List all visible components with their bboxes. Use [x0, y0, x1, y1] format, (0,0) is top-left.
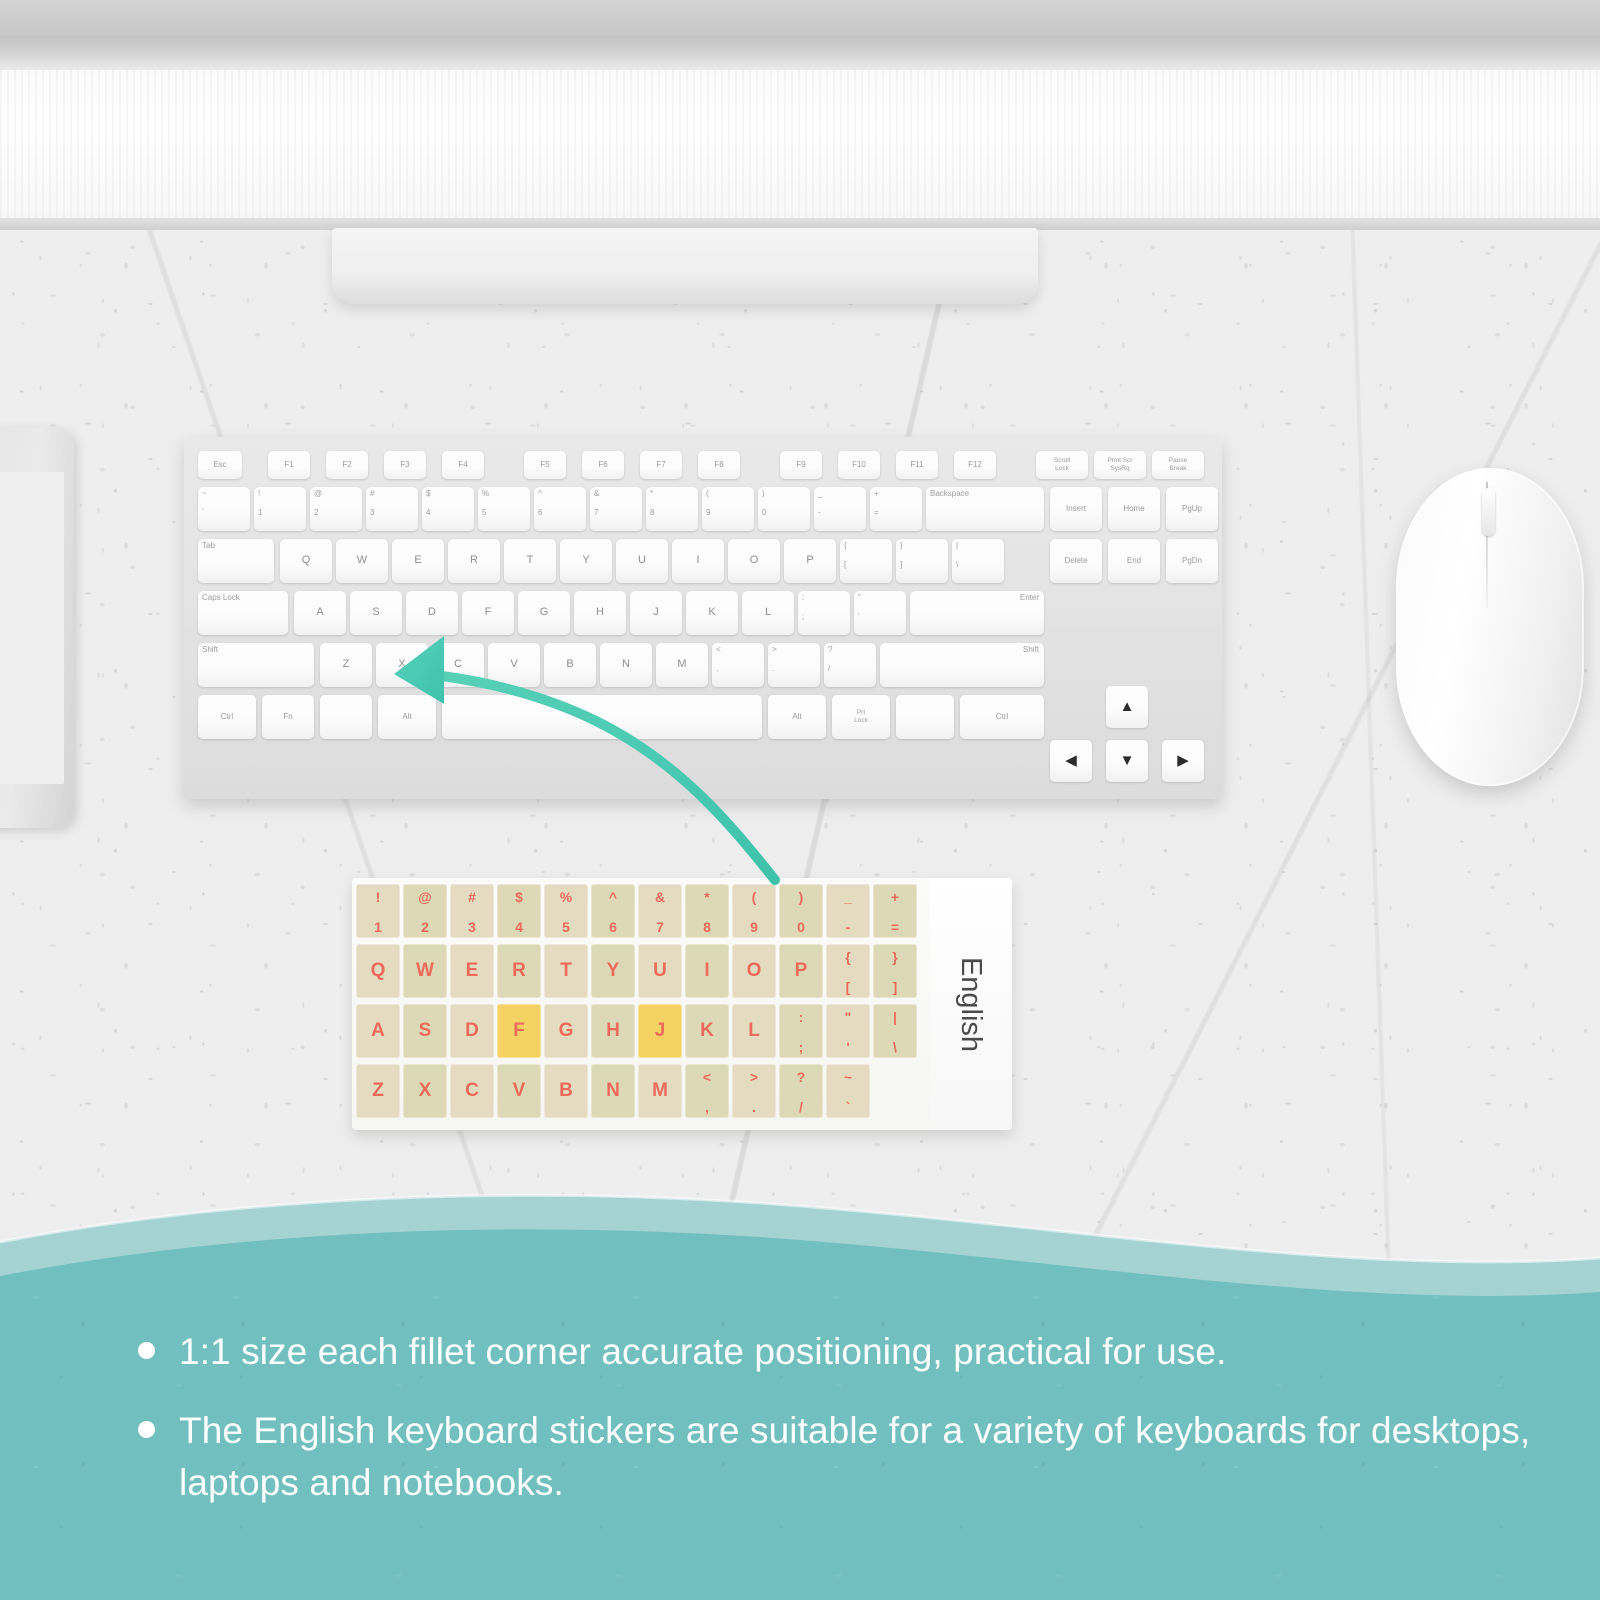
key-pause-break[interactable]: PauseBreak [1152, 451, 1204, 479]
sticker-key-lower-label: , [685, 1099, 729, 1115]
sticker-key-t: T [544, 944, 588, 998]
sticker-key-d: D [450, 1004, 494, 1058]
sticker-key-5: %5 [544, 884, 588, 938]
key-5[interactable]: %5 [478, 487, 530, 531]
sticker-key-7: &7 [638, 884, 682, 938]
key-blank[interactable]: {[ [840, 539, 892, 583]
key-label: Caps Lock [202, 594, 240, 602]
key-upper-label: ^ [538, 490, 542, 498]
sticker-key-upper-label: ) [779, 889, 823, 905]
sticker-home-row: ASDFGHJKL:;"'|\ [356, 1004, 922, 1058]
sticker-key-label: R [497, 960, 541, 982]
sticker-key-upper-label: | [873, 1009, 917, 1025]
sticker-key-key: ~` [826, 1064, 870, 1118]
sticker-key-h: H [591, 1004, 635, 1058]
key-upper-label: ! [258, 490, 260, 498]
sticker-key-label: F [497, 1020, 541, 1042]
key-s[interactable]: S [350, 591, 402, 635]
key-lower-label: - [818, 509, 821, 517]
key-f11[interactable]: F11 [896, 451, 938, 479]
sticker-key-lower-label: - [826, 919, 870, 935]
smartphone-screen [0, 472, 64, 784]
sticker-key-grid: !1@2#3$4%5^6&7*8(9)0_-+=QWERTYUIOP{[}]AS… [356, 884, 922, 1122]
key-blank[interactable]: :; [798, 591, 850, 635]
key-upper-label: ) [762, 490, 765, 498]
sticker-key-label: C [450, 1080, 494, 1102]
key-caps-lock[interactable]: Caps Lock [198, 591, 288, 635]
key-pgdn[interactable]: PgDn [1166, 539, 1218, 583]
key-label: F5 [524, 461, 566, 469]
key-tab[interactable]: Tab [198, 539, 274, 583]
key-label: H [574, 607, 626, 619]
sticker-key-key: {[ [826, 944, 870, 998]
key-f2[interactable]: F2 [326, 451, 368, 479]
key-shift[interactable]: Shift [880, 643, 1044, 687]
sticker-key-f: F [497, 1004, 541, 1058]
sticker-key-9: (9 [732, 884, 776, 938]
key-enter[interactable]: Enter [910, 591, 1044, 635]
key-f5[interactable]: F5 [524, 451, 566, 479]
sticker-key-key: ?/ [779, 1064, 823, 1118]
sticker-key-upper-label: @ [403, 889, 447, 905]
key-upper-label: { [844, 542, 847, 550]
product-photo-scene: EscF1F2F3F4F5F6F7F8F9F10F11F12ScrollLock… [0, 0, 1600, 1600]
key-home[interactable]: Home [1108, 487, 1160, 531]
key-label: Print ScrSysRq [1094, 457, 1146, 473]
key-label: U [616, 555, 668, 567]
sticker-key-g: G [544, 1004, 588, 1058]
key-lower-label: \ [956, 561, 958, 569]
key-label: F8 [698, 461, 740, 469]
key-insert[interactable]: Insert [1050, 487, 1102, 531]
sticker-number-row: !1@2#3$4%5^6&7*8(9)0_-+= [356, 884, 922, 938]
key-lower-label: ' [858, 613, 860, 621]
sticker-key-2: @2 [403, 884, 447, 938]
key-f8[interactable]: F8 [698, 451, 740, 479]
key-label: Home [1108, 505, 1160, 513]
key-f7[interactable]: F7 [640, 451, 682, 479]
key-lower-label: 8 [650, 509, 654, 517]
sticker-key-b: B [544, 1064, 588, 1118]
key-y[interactable]: Y [560, 539, 612, 583]
key-fn[interactable]: Fn [262, 695, 314, 739]
key-j[interactable]: J [630, 591, 682, 635]
key-0[interactable]: )0 [758, 487, 810, 531]
key-i[interactable]: I [672, 539, 724, 583]
key-backspace[interactable]: Backspace [926, 487, 1044, 531]
arrow-right-key[interactable]: ▶ [1162, 740, 1204, 782]
key-f10[interactable]: F10 [838, 451, 880, 479]
sticker-key-l: L [732, 1004, 776, 1058]
sticker-key-z: Z [356, 1064, 400, 1118]
key-w[interactable]: W [336, 539, 388, 583]
key-scroll-lock[interactable]: ScrollLock [1036, 451, 1088, 479]
key-upper-label: & [594, 490, 599, 498]
key-f[interactable]: F [462, 591, 514, 635]
sticker-key-upper-label: ^ [591, 889, 635, 905]
key-delete[interactable]: Delete [1050, 539, 1102, 583]
sticker-key-upper-label: + [873, 889, 917, 905]
sticker-key-upper-label: * [685, 889, 729, 905]
sticker-key-upper-label: ~ [826, 1069, 870, 1085]
key-label: ScrollLock [1036, 457, 1088, 473]
sticker-key-upper-label: $ [497, 889, 541, 905]
sticker-key-key: "' [826, 1004, 870, 1058]
sticker-key-label: D [450, 1020, 494, 1042]
sticker-key-upper-label: < [685, 1069, 729, 1085]
key-label: O [728, 555, 780, 567]
sticker-key-key: <, [685, 1064, 729, 1118]
key-label: R [448, 555, 500, 567]
sticker-key-4: $4 [497, 884, 541, 938]
key-label: F2 [326, 461, 368, 469]
arrow-down-key[interactable]: ▼ [1106, 740, 1148, 782]
mouse-scroll-wheel [1482, 488, 1495, 536]
sticker-key-lower-label: . [732, 1099, 776, 1115]
sticker-key-label: S [403, 1020, 447, 1042]
sticker-key-y: Y [591, 944, 635, 998]
key-shift[interactable]: Shift [198, 643, 314, 687]
key-label: L [742, 607, 794, 619]
arrow-left-glyph-icon: ◀ [1050, 753, 1092, 769]
sticker-key-upper-label: ? [779, 1069, 823, 1085]
sticker-key-label: Q [356, 960, 400, 982]
key-upper-label: + [874, 490, 879, 498]
sticker-key-u: U [638, 944, 682, 998]
key-label: Shift [1023, 646, 1039, 654]
key-f3[interactable]: F3 [384, 451, 426, 479]
key-label: F12 [954, 461, 996, 469]
key-8[interactable]: *8 [646, 487, 698, 531]
key-label: Delete [1050, 557, 1102, 565]
monitor-body [0, 70, 1600, 218]
monitor-top-edge [0, 0, 1600, 36]
key-label: P [784, 555, 836, 567]
key-label: Z [320, 659, 372, 671]
sticker-key-label: E [450, 960, 494, 982]
sticker-key-label: V [497, 1080, 541, 1102]
key-9[interactable]: (9 [702, 487, 754, 531]
sticker-key-lower-label: 1 [356, 919, 400, 935]
sticker-key-label: Y [591, 960, 635, 982]
key-label: Enter [1020, 594, 1039, 602]
key-r[interactable]: R [448, 539, 500, 583]
key-pgup[interactable]: PgUp [1166, 487, 1218, 531]
key-d[interactable]: D [406, 591, 458, 635]
key-q[interactable]: Q [280, 539, 332, 583]
feature-bullet-text: 1:1 size each fillet corner accurate pos… [179, 1326, 1226, 1379]
key-blank[interactable]: }] [896, 539, 948, 583]
sticker-key-label: L [732, 1020, 776, 1042]
sticker-key-lower-label: ' [826, 1039, 870, 1055]
sticker-key-label: J [638, 1020, 682, 1042]
sticker-key-lower-label: 3 [450, 919, 494, 935]
sticker-key-lower-label: \ [873, 1039, 917, 1055]
bullet-dot-icon [138, 1342, 155, 1359]
sticker-language-label: English [930, 878, 1012, 1130]
sticker-key-key: |\ [873, 1004, 917, 1058]
sticker-key-label: W [403, 960, 447, 982]
sticker-key-label: U [638, 960, 682, 982]
sticker-key-key: :; [779, 1004, 823, 1058]
key-upper-label: $ [426, 490, 430, 498]
sticker-key-lower-label: 8 [685, 919, 729, 935]
sticker-key-c: C [450, 1064, 494, 1118]
key-p[interactable]: P [784, 539, 836, 583]
monitor-bezel-edge [0, 36, 1600, 70]
key-label: F7 [640, 461, 682, 469]
key-4[interactable]: $4 [422, 487, 474, 531]
key-lower-label: 9 [706, 509, 710, 517]
key-label: Shift [202, 646, 218, 654]
key-label: F1 [268, 461, 310, 469]
sticker-key-label: T [544, 960, 588, 982]
key-label: Esc [198, 461, 242, 469]
key-f6[interactable]: F6 [582, 451, 624, 479]
monitor-stand [332, 228, 1038, 304]
sticker-key-m: M [638, 1064, 682, 1118]
key-upper-label: | [956, 542, 958, 550]
sticker-key-s: S [403, 1004, 447, 1058]
key-ctrl[interactable]: Ctrl [198, 695, 256, 739]
sticker-key-lower-label: ] [873, 979, 917, 995]
sticker-key-lower-label: 6 [591, 919, 635, 935]
sticker-key-upper-label: > [732, 1069, 776, 1085]
key-lower-label: ] [900, 561, 902, 569]
sticker-key-label: B [544, 1080, 588, 1102]
key-lower-label: = [874, 509, 879, 517]
key-label: D [406, 607, 458, 619]
key-label: End [1108, 557, 1160, 565]
sticker-key-0: )0 [779, 884, 823, 938]
sticker-key-q: Q [356, 944, 400, 998]
sticker-key-lower-label: 2 [403, 919, 447, 935]
sticker-key-lower-label: 5 [544, 919, 588, 935]
arrow-right-glyph-icon: ▶ [1162, 753, 1204, 769]
sticker-key-lower-label: 7 [638, 919, 682, 935]
key-label: Y [560, 555, 612, 567]
key-label: F6 [582, 461, 624, 469]
key-upper-label: : [802, 594, 804, 602]
key-label: PgUp [1166, 505, 1218, 513]
sticker-key-lower-label: 9 [732, 919, 776, 935]
key-lower-label: 4 [426, 509, 430, 517]
sticker-key-6: ^6 [591, 884, 635, 938]
sticker-key-o: O [732, 944, 776, 998]
arrow-up-glyph-icon: ▲ [1106, 699, 1148, 715]
sticker-key-upper-label: } [873, 949, 917, 965]
key-3[interactable]: #3 [366, 487, 418, 531]
key-label: E [392, 555, 444, 567]
sticker-key-upper-label: ( [732, 889, 776, 905]
key-upper-label: " [858, 594, 861, 602]
sticker-key-label: O [732, 960, 776, 982]
key-label: Backspace [930, 490, 969, 498]
key-f12[interactable]: F12 [954, 451, 996, 479]
feature-bullet-item: 1:1 size each fillet corner accurate pos… [138, 1326, 1538, 1379]
key-upper-label: _ [818, 490, 822, 498]
sticker-key-lower-label: ; [779, 1039, 823, 1055]
sticker-key-label: M [638, 1080, 682, 1102]
feature-bullet-list: 1:1 size each fillet corner accurate pos… [138, 1326, 1538, 1536]
key-label: PrtLock [832, 709, 890, 725]
key-blank[interactable]: _- [814, 487, 866, 531]
key-label: Ctrl [960, 713, 1044, 721]
key-lower-label: 7 [594, 509, 598, 517]
arrow-up-key[interactable]: ▲ [1106, 686, 1148, 728]
key-lower-label: [ [844, 561, 846, 569]
key-blank[interactable]: += [870, 487, 922, 531]
sticker-key-key: _- [826, 884, 870, 938]
key-label: F [462, 607, 514, 619]
key-print-scr-sysrq[interactable]: Print ScrSysRq [1094, 451, 1146, 479]
key-upper-label: * [650, 490, 653, 498]
key-label: F10 [838, 461, 880, 469]
key-blank[interactable]: ~` [198, 487, 250, 531]
key-l[interactable]: L [742, 591, 794, 635]
sticker-key-lower-label: 0 [779, 919, 823, 935]
key-lower-label: 5 [482, 509, 486, 517]
key-blank[interactable]: ?/ [824, 643, 876, 687]
key-lower-label: ` [202, 509, 205, 517]
sticker-key-lower-label: = [873, 919, 917, 935]
sticker-key-upper-label: ! [356, 889, 400, 905]
key-ctrl[interactable]: Ctrl [960, 695, 1044, 739]
teal-curved-arrow [380, 630, 830, 890]
sticker-key-label: A [356, 1020, 400, 1042]
key-t[interactable]: T [504, 539, 556, 583]
key-label: PgDn [1166, 557, 1218, 565]
sticker-key-p: P [779, 944, 823, 998]
key-label: J [630, 607, 682, 619]
key-1[interactable]: !1 [254, 487, 306, 531]
sticker-language-text: English [955, 956, 988, 1051]
sticker-key-i: I [685, 944, 729, 998]
key-label: F4 [442, 461, 484, 469]
key-label: F3 [384, 461, 426, 469]
sticker-key-key: >. [732, 1064, 776, 1118]
key-blank[interactable] [320, 695, 372, 739]
sticker-key-8: *8 [685, 884, 729, 938]
key-2[interactable]: @2 [310, 487, 362, 531]
sticker-key-label: P [779, 960, 823, 982]
key-label: W [336, 555, 388, 567]
key-u[interactable]: U [616, 539, 668, 583]
sticker-key-upper-label: { [826, 949, 870, 965]
key-f1[interactable]: F1 [268, 451, 310, 479]
sticker-key-key: }] [873, 944, 917, 998]
key-h[interactable]: H [574, 591, 626, 635]
key-label: T [504, 555, 556, 567]
key-lower-label: 3 [370, 509, 374, 517]
arrow-down-glyph-icon: ▼ [1106, 753, 1148, 769]
sticker-key-a: A [356, 1004, 400, 1058]
key-esc[interactable]: Esc [198, 451, 242, 479]
key-upper-label: % [482, 490, 489, 498]
sticker-key-label: K [685, 1020, 729, 1042]
key-k[interactable]: K [686, 591, 738, 635]
key-label: Q [280, 555, 332, 567]
sticker-key-upper-label: # [450, 889, 494, 905]
sticker-key-lower-label: / [779, 1099, 823, 1115]
sticker-key-lower-label: 4 [497, 919, 541, 935]
key-label: S [350, 607, 402, 619]
key-lower-label: ; [802, 613, 804, 621]
key-label: F9 [780, 461, 822, 469]
key-end[interactable]: End [1108, 539, 1160, 583]
key-a[interactable]: A [294, 591, 346, 635]
key-label: Tab [202, 542, 215, 550]
sticker-key-3: #3 [450, 884, 494, 938]
key-6[interactable]: ^6 [534, 487, 586, 531]
key-o[interactable]: O [728, 539, 780, 583]
sticker-key-upper-label: : [779, 1009, 823, 1025]
key-label: A [294, 607, 346, 619]
sticker-key-1: !1 [356, 884, 400, 938]
key-7[interactable]: &7 [590, 487, 642, 531]
key-label: Insert [1050, 505, 1102, 513]
key-label: F11 [896, 461, 938, 469]
key-label: PauseBreak [1152, 457, 1204, 473]
sticker-key-k: K [685, 1004, 729, 1058]
key-lower-label: 0 [762, 509, 766, 517]
key-f9[interactable]: F9 [780, 451, 822, 479]
key-label: Ctrl [198, 713, 256, 721]
key-lower-label: 6 [538, 509, 542, 517]
sticker-key-lower-label: [ [826, 979, 870, 995]
sticker-key-w: W [403, 944, 447, 998]
sticker-key-upper-label: _ [826, 889, 870, 905]
key-g[interactable]: G [518, 591, 570, 635]
key-label: Fn [262, 713, 314, 721]
key-e[interactable]: E [392, 539, 444, 583]
sticker-key-x: X [403, 1064, 447, 1118]
sticker-key-label: N [591, 1080, 635, 1102]
sticker-qwerty-row: QWERTYUIOP{[}] [356, 944, 922, 998]
sticker-key-e: E [450, 944, 494, 998]
sticker-key-upper-label: & [638, 889, 682, 905]
key-lower-label: 1 [258, 509, 262, 517]
key-blank[interactable]: "' [854, 591, 906, 635]
key-label: K [686, 607, 738, 619]
key-blank[interactable] [896, 695, 954, 739]
sticker-key-upper-label: " [826, 1009, 870, 1025]
sticker-key-label: H [591, 1020, 635, 1042]
feature-bullet-item: The English keyboard stickers are suitab… [138, 1405, 1538, 1510]
key-upper-label: ( [706, 490, 709, 498]
feature-bullet-text: The English keyboard stickers are suitab… [179, 1405, 1538, 1510]
key-prt-lock[interactable]: PrtLock [832, 695, 890, 739]
sticker-key-n: N [591, 1064, 635, 1118]
sticker-key-label: X [403, 1080, 447, 1102]
bullet-dot-icon [138, 1421, 155, 1438]
key-blank[interactable]: |\ [952, 539, 1004, 583]
key-upper-label: # [370, 490, 374, 498]
sticker-key-label: G [544, 1020, 588, 1042]
sticker-key-r: R [497, 944, 541, 998]
sticker-key-j: J [638, 1004, 682, 1058]
key-upper-label: @ [314, 490, 322, 498]
sticker-key-v: V [497, 1064, 541, 1118]
arrow-left-key[interactable]: ◀ [1050, 740, 1092, 782]
key-label: G [518, 607, 570, 619]
sticker-key-label: I [685, 960, 729, 982]
key-label: I [672, 555, 724, 567]
sticker-key-upper-label: % [544, 889, 588, 905]
key-f4[interactable]: F4 [442, 451, 484, 479]
key-z[interactable]: Z [320, 643, 372, 687]
key-lower-label: 2 [314, 509, 318, 517]
